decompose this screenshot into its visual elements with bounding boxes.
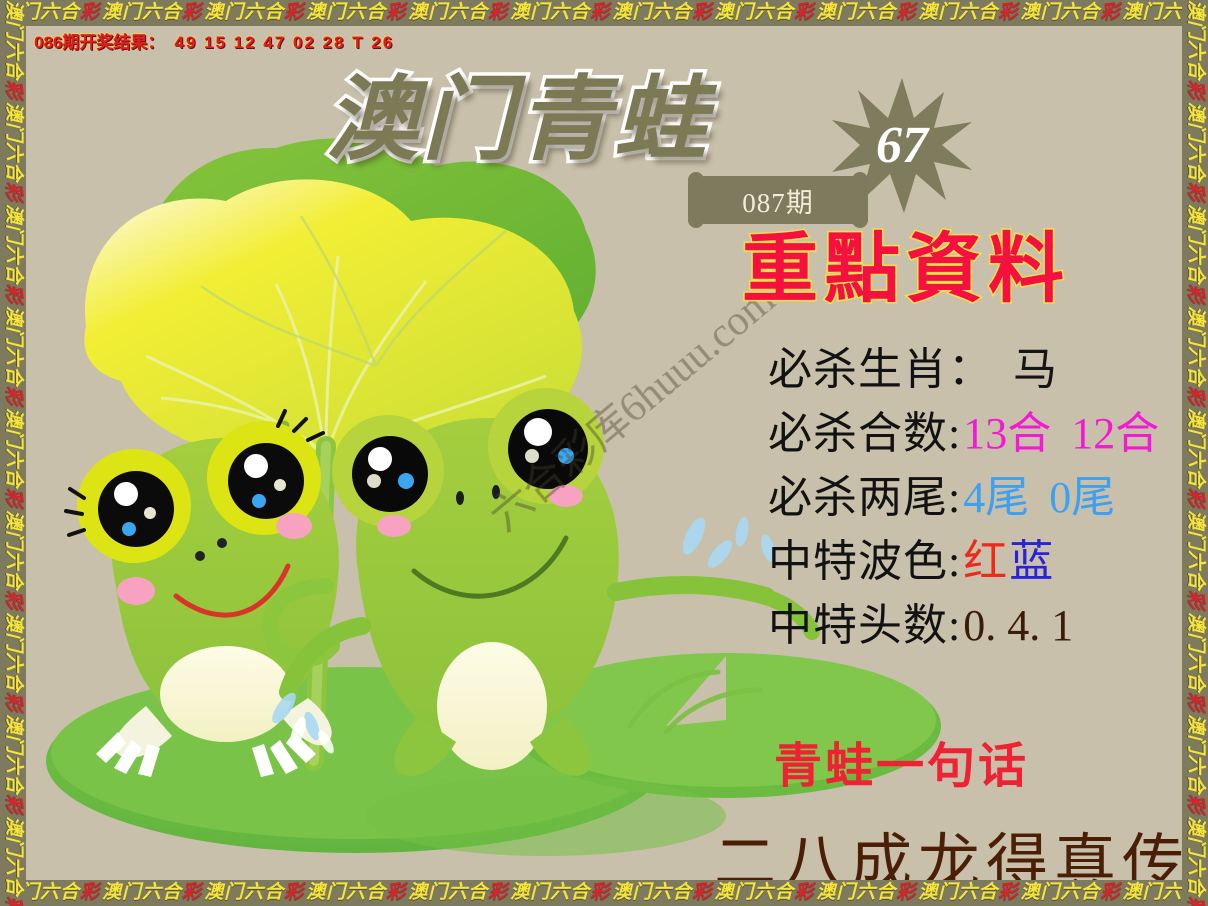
info-row-value: 0. 4. 1 — [963, 601, 1073, 650]
info-row-value-2: 12合 — [1071, 409, 1159, 458]
tip-heading: 青蛙一句话 — [774, 726, 1029, 796]
poster-stage: 六合彩库6huuu.com 086期开奖结果：49 15 12 47 02 28… — [26, 26, 1182, 880]
issue-banner: 087期 — [698, 176, 858, 224]
info-row-value: 红 — [963, 537, 1007, 586]
page-title: 澳门青蛙 — [326, 74, 710, 166]
info-row-value: 4尾 — [963, 473, 1029, 522]
frog-left — [66, 411, 339, 777]
tip-phrase: 二八成龙得真传 — [714, 812, 1182, 880]
info-row: 必杀合数:13合12合 — [768, 402, 1159, 466]
info-row: 必杀生肖：马 — [768, 338, 1159, 402]
info-row-label: 中特波色: — [768, 537, 961, 586]
key-data-list: 必杀生肖：马 必杀合数:13合12合 必杀两尾:4尾0尾 中特波色:红蓝 中特头… — [768, 338, 1159, 658]
border-text-repeat: 澳门六合彩澳门六合彩澳门六合彩澳门六合彩澳门六合彩澳门六合彩澳门六合彩澳门六合彩… — [0, 882, 1208, 903]
border-text-repeat: 澳门六合彩澳门六合彩澳门六合彩澳门六合彩澳门六合彩澳门六合彩澳门六合彩澳门六合彩… — [1182, 0, 1208, 906]
issue-number: 087期 — [698, 176, 858, 224]
info-row-label: 必杀两尾: — [768, 473, 961, 522]
poster-canvas: 澳门六合彩澳门六合彩澳门六合彩澳门六合彩澳门六合彩澳门六合彩澳门六合彩澳门六合彩… — [0, 0, 1208, 906]
border-bottom: 澳门六合彩澳门六合彩澳门六合彩澳门六合彩澳门六合彩澳门六合彩澳门六合彩澳门六合彩… — [0, 880, 1208, 906]
panel-heading: 重點資料 — [742, 232, 1070, 308]
info-row-label: 必杀生肖： — [768, 345, 993, 394]
border-text-repeat: 澳门六合彩澳门六合彩澳门六合彩澳门六合彩澳门六合彩澳门六合彩澳门六合彩澳门六合彩… — [0, 0, 26, 906]
draw-result-numbers: 49 15 12 47 02 28 T 26 — [174, 33, 394, 52]
border-text-repeat: 澳门六合彩澳门六合彩澳门六合彩澳门六合彩澳门六合彩澳门六合彩澳门六合彩澳门六合彩… — [0, 2, 1208, 23]
info-row-label: 必杀合数: — [768, 409, 961, 458]
draw-result-label: 086期开奖结果： — [34, 33, 164, 52]
info-row: 中特头数:0. 4. 1 — [768, 594, 1159, 658]
draw-result-line: 086期开奖结果：49 15 12 47 02 28 T 26 — [34, 28, 394, 53]
border-top: 澳门六合彩澳门六合彩澳门六合彩澳门六合彩澳门六合彩澳门六合彩澳门六合彩澳门六合彩… — [0, 0, 1208, 26]
info-row-label: 中特头数: — [768, 601, 961, 650]
info-row: 中特波色:红蓝 — [768, 530, 1159, 594]
frog-right — [288, 388, 812, 776]
border-left: 澳门六合彩澳门六合彩澳门六合彩澳门六合彩澳门六合彩澳门六合彩澳门六合彩澳门六合彩… — [0, 0, 26, 906]
site-watermark: 六合彩库6huuu.com — [474, 267, 786, 542]
info-row-value-2: 蓝 — [1009, 537, 1053, 586]
info-row: 必杀两尾:4尾0尾 — [768, 466, 1159, 530]
poster-title-wrap: 澳门青蛙 — [326, 74, 710, 166]
border-right: 澳门六合彩澳门六合彩澳门六合彩澳门六合彩澳门六合彩澳门六合彩澳门六合彩澳门六合彩… — [1182, 0, 1208, 906]
info-row-value: 马 — [1013, 345, 1057, 394]
info-row-value: 13合 — [963, 409, 1051, 458]
info-row-value-2: 0尾 — [1049, 473, 1115, 522]
